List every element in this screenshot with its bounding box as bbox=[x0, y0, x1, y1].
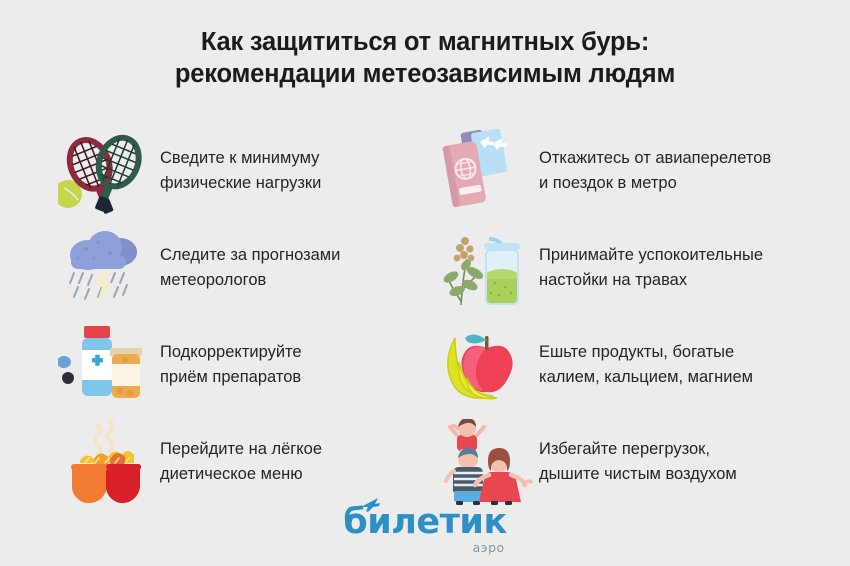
tip-item: Следите за прогнозами метеорологов bbox=[58, 219, 425, 316]
tips-columns: Сведите к минимуму физические нагрузки bbox=[0, 122, 850, 510]
tip-item: Подкорректируйте приём препаратов bbox=[58, 316, 425, 413]
title-line-2: рекомендации метеозависимым людям bbox=[0, 58, 850, 90]
tip-text: Откажитесь от авиаперелетов и поездок в … bbox=[533, 146, 771, 196]
herbal-drink-icon bbox=[437, 225, 533, 311]
tips-column-right: Откажитесь от авиаперелетов и поездок в … bbox=[425, 122, 850, 510]
medicine-bottles-icon bbox=[58, 322, 154, 408]
brand-logo[interactable]: билетик аэро bbox=[0, 503, 850, 541]
tip-text: Избегайте перегрузок, дышите чистым возд… bbox=[533, 437, 737, 487]
tip-text: Принимайте успокоительные настойки на тр… bbox=[533, 243, 763, 293]
tip-item: Избегайте перегрузок, дышите чистым возд… bbox=[437, 413, 850, 510]
tip-line-2: метеорологов bbox=[160, 268, 340, 293]
tip-line-1: Принимайте успокоительные bbox=[539, 246, 763, 264]
tip-item: Откажитесь от авиаперелетов и поездок в … bbox=[437, 122, 850, 219]
tip-item: Перейдите на лёгкое диетическое меню bbox=[58, 413, 425, 510]
tip-item: Сведите к минимуму физические нагрузки bbox=[58, 122, 425, 219]
tip-line-2: физические нагрузки bbox=[160, 171, 321, 196]
airplane-icon bbox=[360, 497, 382, 513]
medicine-bottles-glyph bbox=[58, 322, 154, 408]
tip-text: Ешьте продукты, богатые калием, кальцием… bbox=[533, 340, 753, 390]
tennis-rackets-icon bbox=[58, 128, 154, 214]
rain-cloud-lightning-icon bbox=[58, 225, 154, 311]
tip-item: Принимайте успокоительные настойки на тр… bbox=[437, 219, 850, 316]
tips-column-left: Сведите к минимуму физические нагрузки bbox=[0, 122, 425, 510]
tip-text: Следите за прогнозами метеорологов bbox=[154, 243, 340, 293]
tip-text: Подкорректируйте приём препаратов bbox=[154, 340, 302, 390]
tip-line-2: калием, кальцием, магнием bbox=[539, 365, 753, 390]
herbal-drink-glyph bbox=[437, 225, 533, 311]
fruit-banana-apple-icon bbox=[437, 322, 533, 408]
tip-line-2: и поездок в метро bbox=[539, 171, 771, 196]
tip-line-1: Подкорректируйте bbox=[160, 343, 302, 361]
tip-line-1: Следите за прогнозами bbox=[160, 246, 340, 264]
hot-food-bowl-glyph bbox=[58, 419, 154, 505]
tip-line-2: дышите чистым воздухом bbox=[539, 462, 737, 487]
fruit-glyph bbox=[437, 322, 533, 408]
tip-text: Сведите к минимуму физические нагрузки bbox=[154, 146, 321, 196]
children-playing-icon bbox=[437, 419, 533, 505]
tip-line-1: Откажитесь от авиаперелетов bbox=[539, 149, 771, 167]
children-glyph bbox=[437, 419, 533, 505]
logo-subtitle: аэро bbox=[473, 540, 505, 555]
tip-line-2: приём препаратов bbox=[160, 365, 302, 390]
infographic-poster: Как защититься от магнитных бурь: рекоме… bbox=[0, 0, 850, 566]
tip-line-1: Перейдите на лёгкое bbox=[160, 440, 322, 458]
tip-line-1: Сведите к минимуму bbox=[160, 149, 319, 167]
tip-item: Ешьте продукты, богатые калием, кальцием… bbox=[437, 316, 850, 413]
rain-cloud-glyph bbox=[58, 225, 154, 311]
title-line-1: Как защититься от магнитных бурь: bbox=[0, 26, 850, 58]
tennis-rackets-glyph bbox=[58, 128, 154, 214]
page-title: Как защититься от магнитных бурь: рекоме… bbox=[0, 26, 850, 90]
tip-line-1: Ешьте продукты, богатые bbox=[539, 343, 734, 361]
hot-food-bowl-icon bbox=[58, 419, 154, 505]
tip-text: Перейдите на лёгкое диетическое меню bbox=[154, 437, 322, 487]
tip-line-2: диетическое меню bbox=[160, 462, 322, 487]
tip-line-2: настойки на травах bbox=[539, 268, 763, 293]
tip-line-1: Избегайте перегрузок, bbox=[539, 440, 710, 458]
logo-inner: билетик аэро bbox=[343, 503, 506, 541]
passport-boarding-pass-icon bbox=[437, 128, 533, 214]
passport-glyph bbox=[437, 128, 533, 214]
